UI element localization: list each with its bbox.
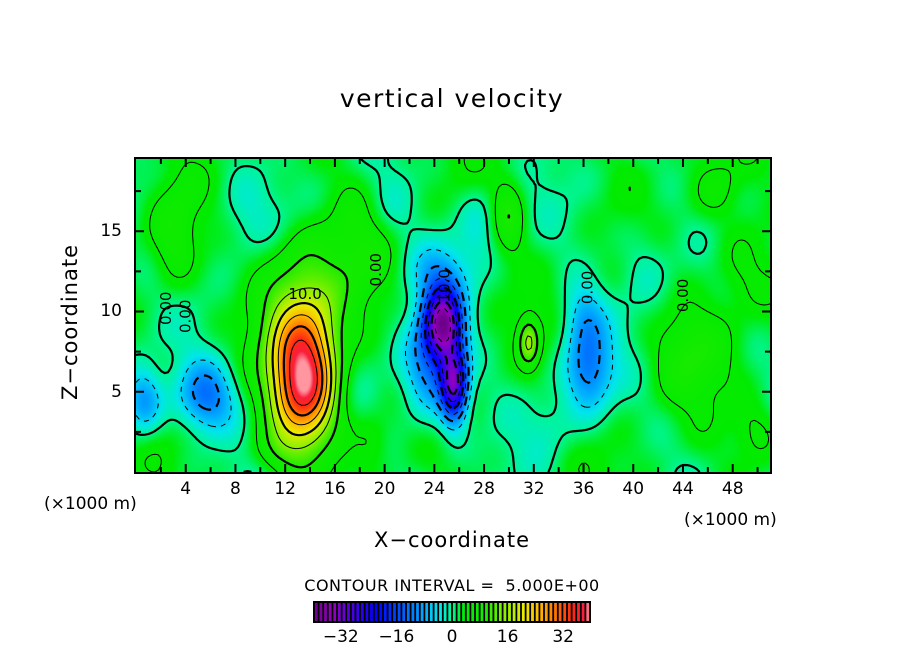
svg-text:0.00: 0.00 bbox=[578, 271, 596, 304]
svg-text:0.00: 0.00 bbox=[157, 292, 175, 325]
contour-field: 10.00.0010.00.000.000.000.00 bbox=[136, 159, 770, 472]
y-tick-label: 5 bbox=[72, 382, 122, 402]
svg-text:0.00: 0.00 bbox=[674, 279, 692, 312]
colorbar-tick-label: −32 bbox=[311, 627, 371, 647]
x-axis-title: X−coordinate bbox=[0, 528, 904, 552]
y-tick-label: 15 bbox=[72, 221, 122, 241]
colorbar-tick-label: 32 bbox=[533, 627, 593, 647]
x-tick-label: 48 bbox=[703, 479, 763, 499]
page-title: vertical velocity bbox=[0, 84, 904, 113]
contour-plot-figure: vertical velocity 10.00.0010.00.000.000.… bbox=[0, 0, 904, 654]
contour-label: 10.0 bbox=[288, 285, 323, 303]
colorbar-tick-label: 0 bbox=[422, 627, 482, 647]
x-unit-label-right: (×1000 m) bbox=[684, 510, 777, 530]
colorbar bbox=[313, 601, 591, 623]
plot-area: 10.00.0010.00.000.000.000.00 bbox=[134, 157, 772, 474]
colorbar-tick-label: 16 bbox=[478, 627, 538, 647]
y-tick-label: 10 bbox=[72, 301, 122, 321]
x-unit-label-left: (×1000 m) bbox=[44, 494, 137, 514]
colorbar-caption: CONTOUR INTERVAL = 5.000E+00 bbox=[0, 576, 904, 595]
svg-text:0.00: 0.00 bbox=[177, 300, 195, 333]
colorbar-tick-label: −16 bbox=[366, 627, 426, 647]
svg-text:10.0: 10.0 bbox=[435, 269, 453, 302]
svg-text:10.0: 10.0 bbox=[288, 285, 321, 303]
svg-text:0.00: 0.00 bbox=[367, 253, 385, 286]
